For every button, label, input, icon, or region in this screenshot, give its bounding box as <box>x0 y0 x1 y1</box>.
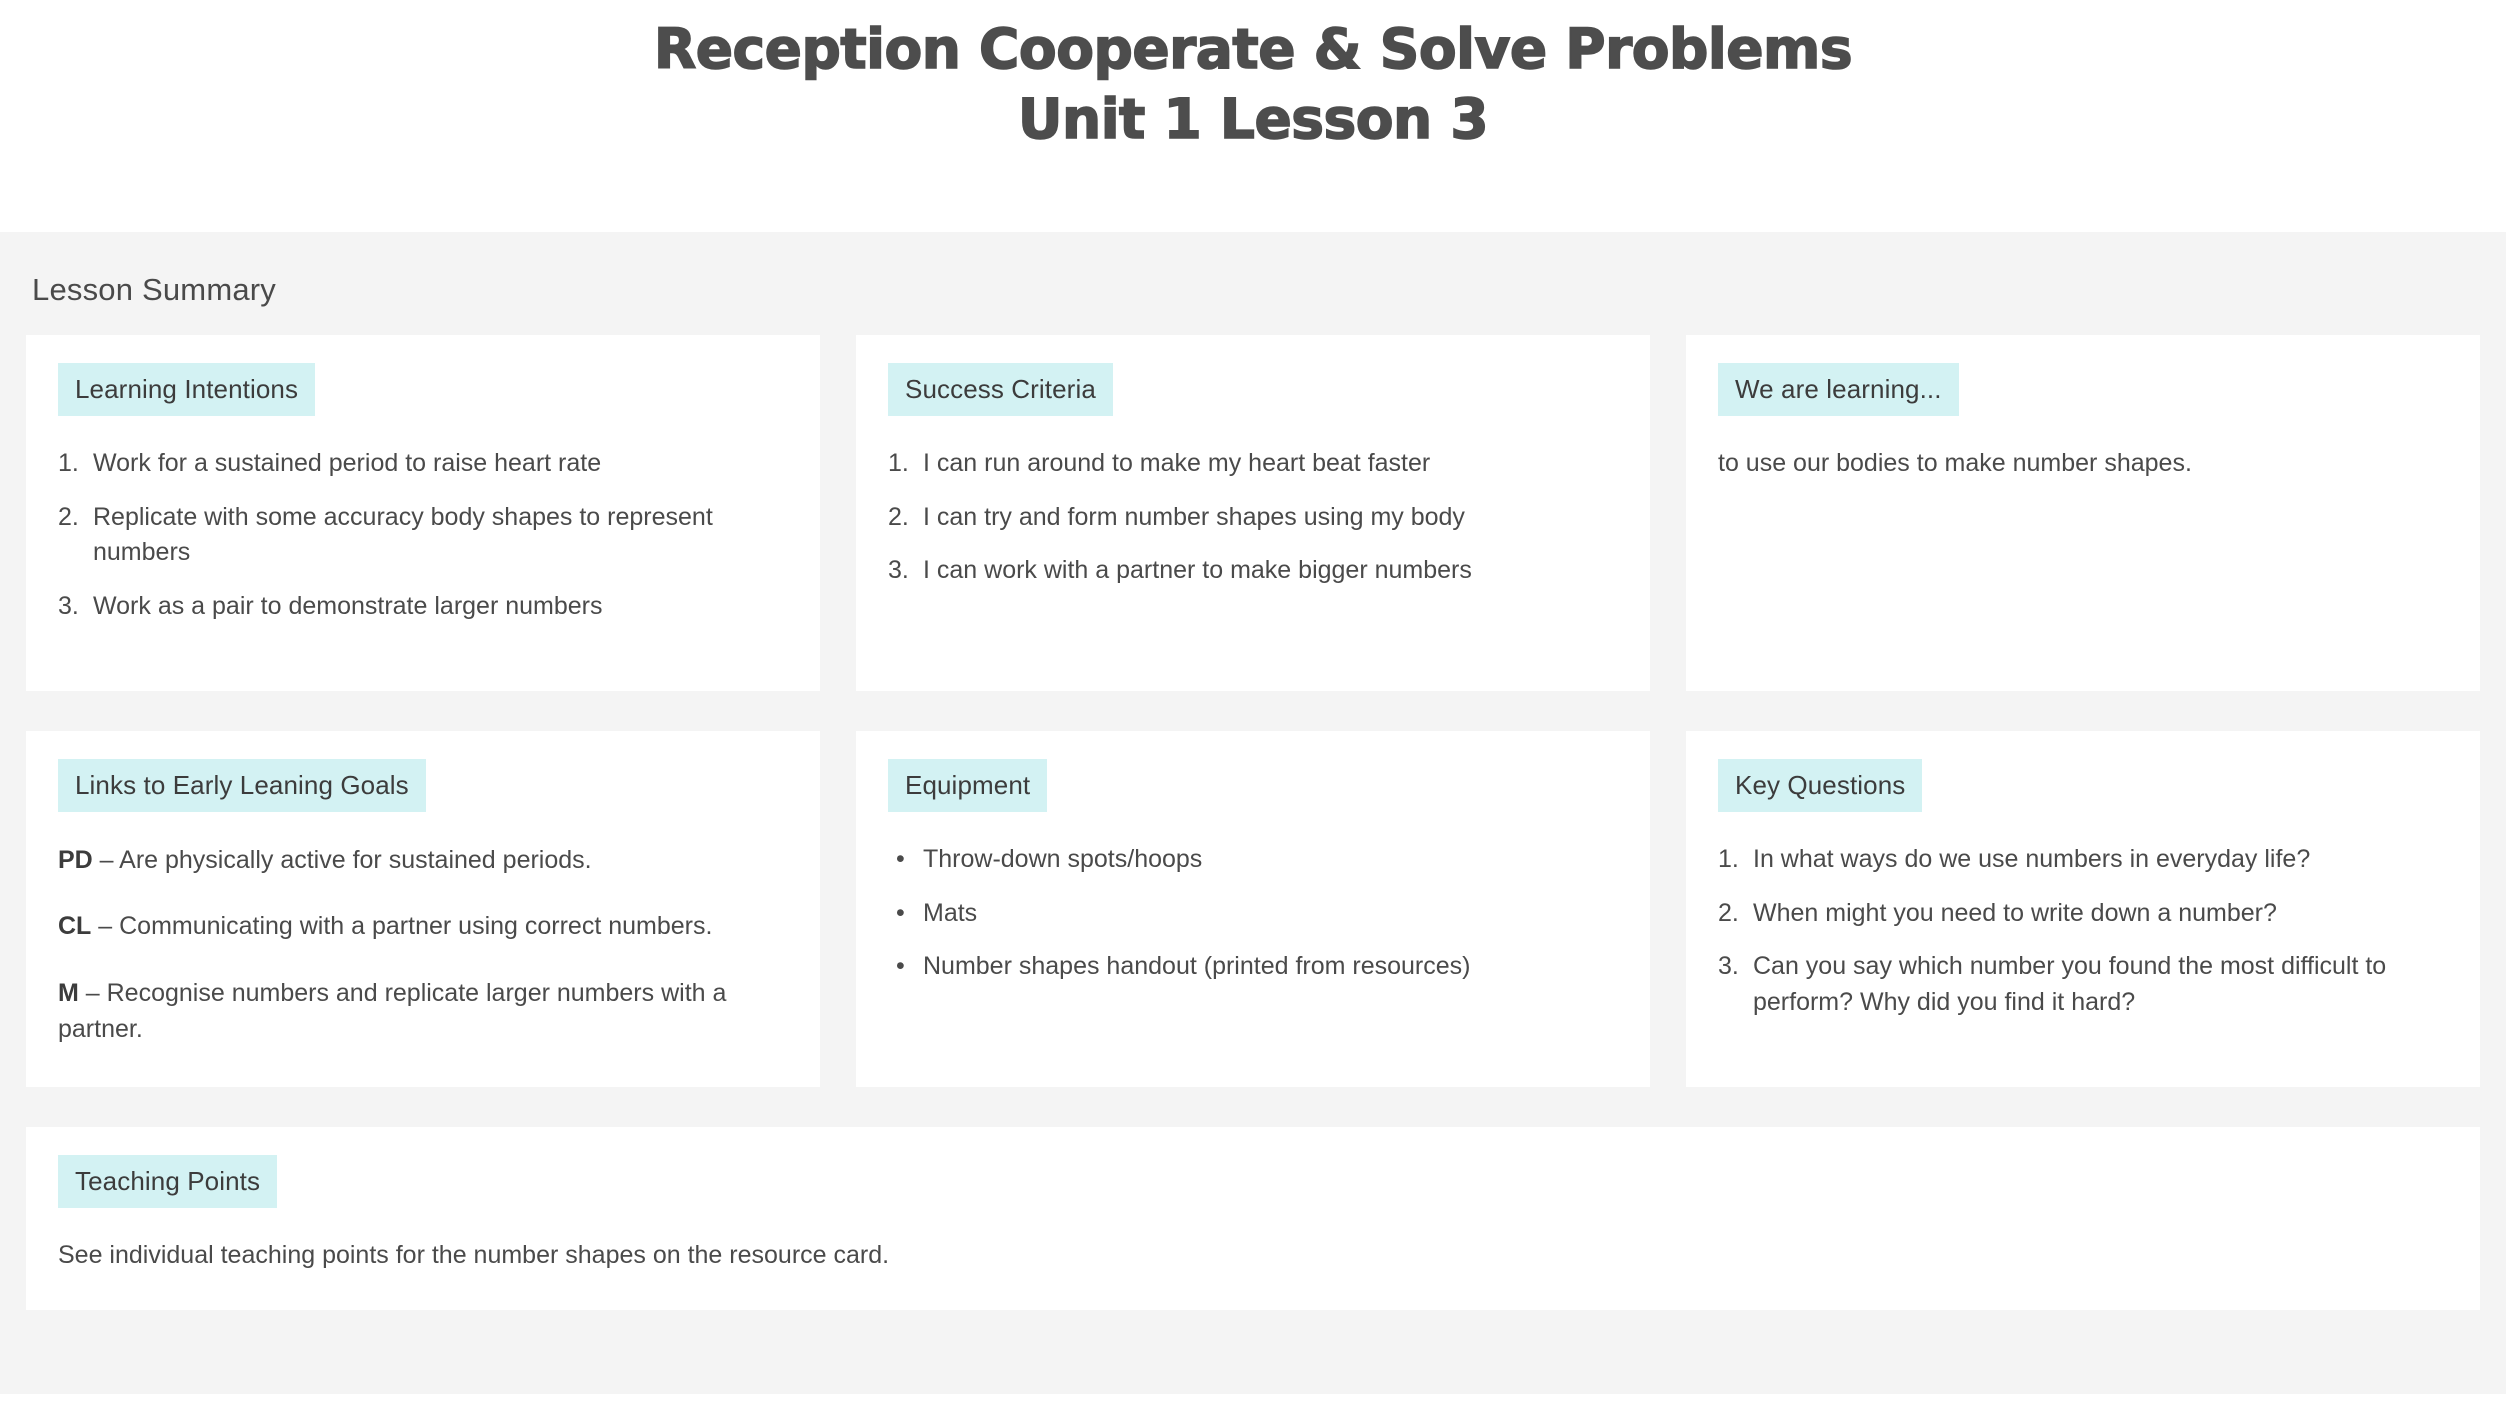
list-text: Work for a sustained period to raise hea… <box>93 449 601 477</box>
equipment-list: •Throw-down spots/hoops •Mats •Number sh… <box>888 842 1618 985</box>
card-badge-success-criteria: Success Criteria <box>888 363 1113 416</box>
learning-intentions-list: 1.Work for a sustained period to raise h… <box>58 446 788 624</box>
list-text: Replicate with some accuracy body shapes… <box>93 503 713 567</box>
list-item: •Throw-down spots/hoops <box>888 842 1618 878</box>
list-item: •Mats <box>888 896 1618 932</box>
list-item: 2.Replicate with some accuracy body shap… <box>58 500 788 571</box>
summary-card-grid: Learning Intentions 1.Work for a sustain… <box>0 335 2506 1087</box>
success-criteria-list: 1.I can run around to make my heart beat… <box>888 446 1618 589</box>
card-teaching-points: Teaching Points See individual teaching … <box>26 1127 2480 1310</box>
list-item: 1.In what ways do we use numbers in ever… <box>1718 842 2448 878</box>
goal-code: CL <box>58 912 91 940</box>
list-text: In what ways do we use numbers in everyd… <box>1753 845 2310 873</box>
list-marker: 3. <box>1718 949 1739 985</box>
goal-row: PD – Are physically active for sustained… <box>58 842 788 878</box>
card-equipment: Equipment •Throw-down spots/hoops •Mats … <box>856 731 1650 1087</box>
list-text: I can try and form number shapes using m… <box>923 503 1465 531</box>
page-title-line-2: Unit 1 Lesson 3 <box>0 84 2506 154</box>
goal-code: M <box>58 979 79 1007</box>
card-badge-key-questions: Key Questions <box>1718 759 1922 812</box>
list-marker: 2. <box>888 500 909 536</box>
list-marker: 2. <box>1718 896 1739 932</box>
teaching-points-body: See individual teaching points for the n… <box>58 1238 2448 1274</box>
list-item: 1.I can run around to make my heart beat… <box>888 446 1618 482</box>
list-marker: 1. <box>1718 842 1739 878</box>
goal-text: – Communicating with a partner using cor… <box>91 912 712 940</box>
card-learning-intentions: Learning Intentions 1.Work for a sustain… <box>26 335 820 691</box>
list-text: Mats <box>923 899 977 927</box>
list-text: Can you say which number you found the m… <box>1753 952 2386 1016</box>
section-heading: Lesson Summary <box>0 232 2506 335</box>
list-item: 1.Work for a sustained period to raise h… <box>58 446 788 482</box>
goal-text: – Recognise numbers and replicate larger… <box>58 979 726 1043</box>
goal-row: CL – Communicating with a partner using … <box>58 908 788 944</box>
list-item: 2.When might you need to write down a nu… <box>1718 896 2448 932</box>
list-item: 3.I can work with a partner to make bigg… <box>888 553 1618 589</box>
key-questions-list: 1.In what ways do we use numbers in ever… <box>1718 842 2448 1020</box>
list-item: 3.Work as a pair to demonstrate larger n… <box>58 589 788 625</box>
title-band: Reception Cooperate & Solve Problems Uni… <box>0 0 2506 232</box>
list-item: 3.Can you say which number you found the… <box>1718 949 2448 1020</box>
card-badge-early-learning-goals: Links to Early Leaning Goals <box>58 759 426 812</box>
list-marker: 2. <box>58 500 79 536</box>
card-badge-teaching-points: Teaching Points <box>58 1155 277 1208</box>
card-we-are-learning: We are learning... to use our bodies to … <box>1686 335 2480 691</box>
card-badge-learning-intentions: Learning Intentions <box>58 363 315 416</box>
list-marker: 1. <box>58 446 79 482</box>
list-marker: 3. <box>888 553 909 589</box>
card-key-questions: Key Questions 1.In what ways do we use n… <box>1686 731 2480 1087</box>
list-item: 2.I can try and form number shapes using… <box>888 500 1618 536</box>
bullet-icon: • <box>896 949 905 985</box>
card-early-learning-goals: Links to Early Leaning Goals PD – Are ph… <box>26 731 820 1087</box>
goal-row: M – Recognise numbers and replicate larg… <box>58 975 788 1048</box>
page-title-line-1: Reception Cooperate & Solve Problems <box>654 17 1852 81</box>
card-success-criteria: Success Criteria 1.I can run around to m… <box>856 335 1650 691</box>
card-badge-equipment: Equipment <box>888 759 1047 812</box>
we-are-learning-body: to use our bodies to make number shapes. <box>1718 446 2448 482</box>
list-text: I can run around to make my heart beat f… <box>923 449 1430 477</box>
list-text: Work as a pair to demonstrate larger num… <box>93 592 603 620</box>
list-text: I can work with a partner to make bigger… <box>923 556 1472 584</box>
list-text: Throw-down spots/hoops <box>923 845 1202 873</box>
bullet-icon: • <box>896 842 905 878</box>
list-marker: 1. <box>888 446 909 482</box>
bullet-icon: • <box>896 896 905 932</box>
list-text: Number shapes handout (printed from reso… <box>923 952 1471 980</box>
list-item: •Number shapes handout (printed from res… <box>888 949 1618 985</box>
goal-code: PD <box>58 846 93 874</box>
goal-text: – Are physically active for sustained pe… <box>93 846 592 874</box>
list-text: When might you need to write down a numb… <box>1753 899 2277 927</box>
card-badge-we-are-learning: We are learning... <box>1718 363 1959 416</box>
page-title: Reception Cooperate & Solve Problems Uni… <box>0 14 2506 155</box>
list-marker: 3. <box>58 589 79 625</box>
lesson-summary-section: Lesson Summary Learning Intentions 1.Wor… <box>0 232 2506 1394</box>
